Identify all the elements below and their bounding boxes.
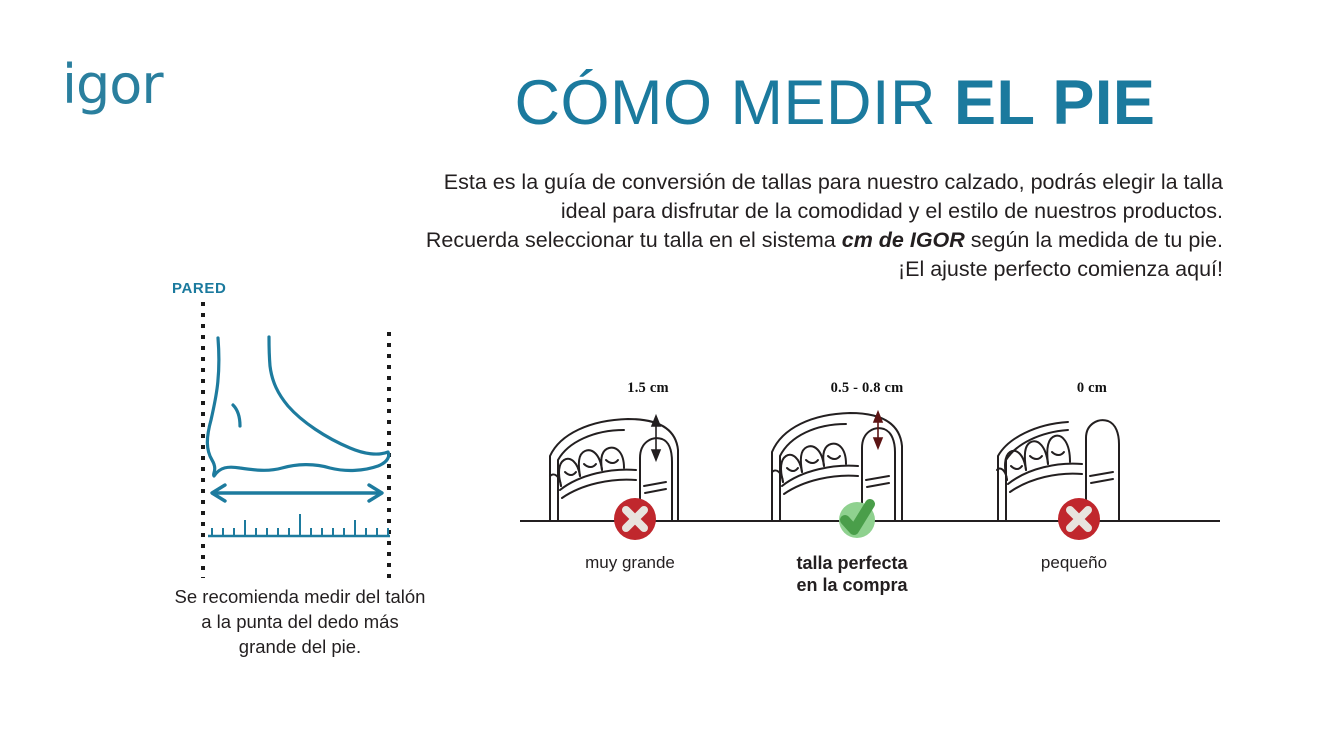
igor-logo: igor — [62, 58, 163, 112]
fit-diagram-too-small: 0 cm — [964, 370, 1184, 640]
page-title: CÓMO MEDIR EL PIE — [440, 72, 1230, 135]
profile-caption: Se recomienda medir del talón a la punta… — [125, 584, 475, 659]
foot-profile-illustration — [150, 280, 440, 580]
foot-outline — [207, 337, 388, 476]
fit-caption: muy grande — [520, 552, 740, 574]
ruler — [208, 514, 390, 536]
size-guide-page: igor CÓMO MEDIR EL PIE Esta es la guía d… — [0, 0, 1320, 737]
cross-icon — [612, 496, 658, 542]
fit-caption: talla perfecta en la compra — [742, 552, 962, 596]
wall-label: PARED — [172, 280, 226, 297]
gap-measure-arrow — [874, 412, 882, 448]
intro-line-2: ideal para disfrutar de la comodidad y e… — [561, 199, 1223, 223]
cross-icon — [1056, 496, 1102, 542]
intro-line-1: Esta es la guía de conversión de tallas … — [444, 170, 1223, 194]
intro-paragraph: Esta es la guía de conversión de tallas … — [330, 168, 1223, 284]
fit-caption: pequeño — [964, 552, 1184, 574]
profile-caption-line-1: Se recomienda medir del talón — [175, 586, 426, 607]
fit-caption-line-2: en la compra — [796, 575, 907, 595]
length-measure-arrow — [212, 485, 382, 501]
fit-comparison-row: 1.5 cm — [520, 370, 1220, 640]
fit-caption-line-1: pequeño — [1041, 553, 1107, 572]
page-title-light: CÓMO MEDIR — [515, 68, 955, 138]
intro-line-3-before: Recuerda seleccionar tu talla en el sist… — [426, 228, 842, 252]
check-icon — [834, 496, 880, 542]
intro-line-3-after: según la medida de tu pie. — [965, 228, 1223, 252]
foot-profile-diagram: PARED — [150, 280, 440, 580]
fit-caption-line-1: talla perfecta — [796, 553, 907, 573]
intro-line-4: ¡El ajuste perfecto comienza aquí! — [898, 257, 1223, 281]
fit-diagram-perfect: 0.5 - 0.8 cm — [742, 370, 962, 640]
fit-diagram-too-big: 1.5 cm — [520, 370, 740, 640]
fit-caption-line-1: muy grande — [585, 553, 675, 572]
page-title-bold: EL PIE — [954, 68, 1155, 138]
intro-emphasis: cm de IGOR — [842, 228, 965, 252]
profile-caption-line-2: a la punta del dedo más — [201, 611, 398, 632]
profile-caption-line-3: grande del pie. — [239, 636, 361, 657]
